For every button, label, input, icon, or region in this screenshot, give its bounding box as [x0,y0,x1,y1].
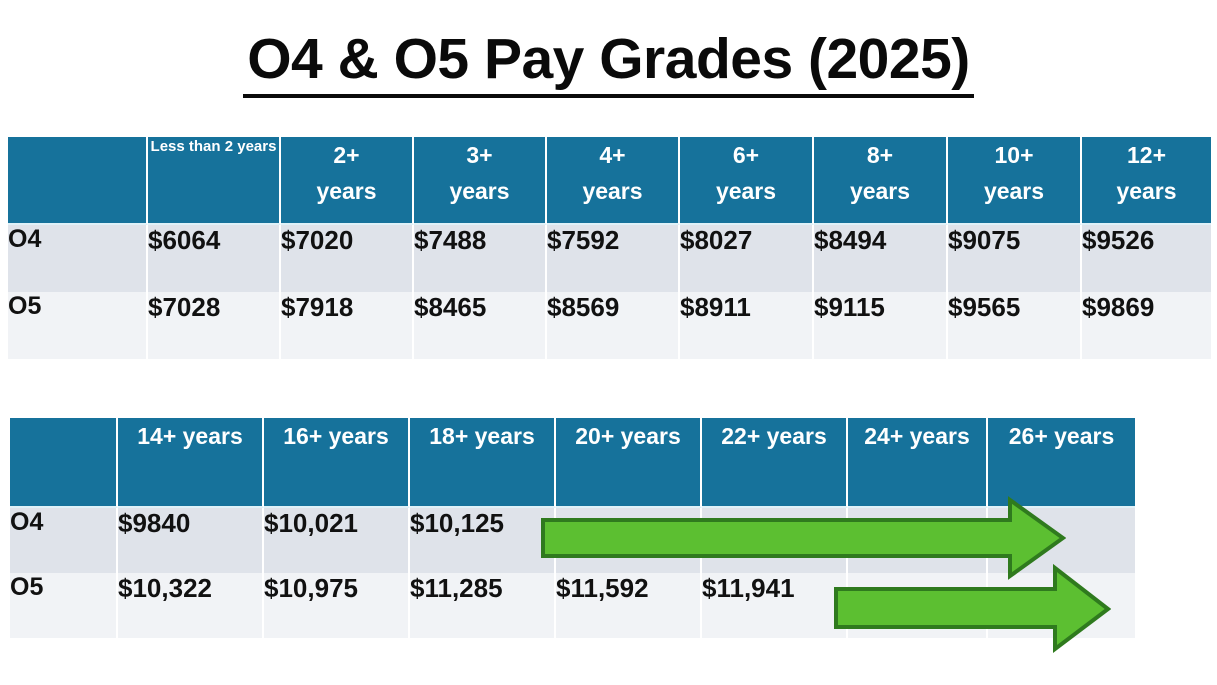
header-line-2: years [183,423,243,449]
header-line-2: years [680,173,812,209]
pay-cell: $10,125 [410,508,556,573]
header-corner-cell [10,418,118,508]
pay-cell: $11,592 [556,573,702,638]
header-line-2: years [547,173,678,209]
pay-cell: $9840 [118,508,264,573]
header-line-1: 10+ [994,142,1033,168]
header-line-2: years [814,173,946,209]
table-row-o4: O4 $9840 $10,021 $10,125 [10,508,1135,573]
header-line-1: 2+ [333,142,359,168]
header-line-1: Less than 2 [151,138,234,155]
pay-cell: $6064 [148,225,281,292]
pay-cell: $7028 [148,292,281,359]
header-line-2: years [948,173,1080,209]
pay-cell [848,508,988,573]
pay-cell [988,508,1135,573]
pay-cell: $9565 [948,292,1082,359]
header-line-2: years [475,423,535,449]
pay-cell: $10,021 [264,508,410,573]
header-line-2: years [237,138,276,155]
pay-cell [556,508,702,573]
column-header-26-years: 26+ years [988,418,1135,508]
column-header-8-years: 8+ years [814,137,948,225]
header-line-2: years [1054,423,1114,449]
pay-cell: $8569 [547,292,680,359]
pay-cell: $9526 [1082,225,1211,292]
row-label-o5: O5 [10,573,118,638]
header-line-1: 20+ [575,423,614,449]
row-label-o4: O4 [10,508,118,573]
header-line-2: years [329,423,389,449]
pay-table-years-0-12: Less than 2 years 2+ years 3+ years 4+ y… [8,137,1211,359]
table-header-row: 14+ years 16+ years 18+ years 20+ years … [10,418,1135,508]
column-header-less-than-2-years: Less than 2 years [148,137,281,225]
row-label-o4: O4 [8,225,148,292]
column-header-12-years: 12+ years [1082,137,1211,225]
pay-cell: $10,322 [118,573,264,638]
table-header-row: Less than 2 years 2+ years 3+ years 4+ y… [8,137,1211,225]
pay-cell: $11,285 [410,573,556,638]
column-header-14-years: 14+ years [118,418,264,508]
table-row-o4: O4 $6064 $7020 $7488 $7592 $8027 $8494 $… [8,225,1211,292]
pay-table-years-14-26: 14+ years 16+ years 18+ years 20+ years … [10,418,1135,638]
row-label-o5: O5 [8,292,148,359]
pay-cell: $7592 [547,225,680,292]
column-header-6-years: 6+ years [680,137,814,225]
page-title-container: O4 & O5 Pay Grades (2025) [0,30,1217,98]
header-line-2: years [621,423,681,449]
header-line-1: 22+ [721,423,760,449]
column-header-10-years: 10+ years [948,137,1082,225]
pay-cell: $9115 [814,292,948,359]
header-line-2: years [414,173,545,209]
header-line-2: years [1082,173,1211,209]
pay-cell: $8027 [680,225,814,292]
table-row-o5: O5 $10,322 $10,975 $11,285 $11,592 $11,9… [10,573,1135,638]
header-corner-cell [8,137,148,225]
header-line-1: 8+ [867,142,893,168]
pay-cell [848,573,988,638]
pay-cell: $8911 [680,292,814,359]
pay-cell: $10,975 [264,573,410,638]
column-header-20-years: 20+ years [556,418,702,508]
header-line-2: years [281,173,412,209]
header-line-1: 3+ [466,142,492,168]
header-line-1: 6+ [733,142,759,168]
column-header-24-years: 24+ years [848,418,988,508]
pay-cell: $11,941 [702,573,848,638]
pay-cell: $9869 [1082,292,1211,359]
table-row-o5: O5 $7028 $7918 $8465 $8569 $8911 $9115 $… [8,292,1211,359]
column-header-22-years: 22+ years [702,418,848,508]
header-line-1: 26+ [1009,423,1048,449]
column-header-16-years: 16+ years [264,418,410,508]
header-line-1: 16+ [283,423,322,449]
pay-cell: $9075 [948,225,1082,292]
column-header-3-years: 3+ years [414,137,547,225]
column-header-4-years: 4+ years [547,137,680,225]
pay-cell [988,573,1135,638]
pay-cell: $8494 [814,225,948,292]
pay-cell: $8465 [414,292,547,359]
pay-cell: $7488 [414,225,547,292]
page-title: O4 & O5 Pay Grades (2025) [243,30,974,98]
header-line-1: 4+ [599,142,625,168]
header-line-1: 12+ [1127,142,1166,168]
column-header-18-years: 18+ years [410,418,556,508]
column-header-2-years: 2+ years [281,137,414,225]
header-line-1: 14+ [137,423,176,449]
header-line-2: years [767,423,827,449]
pay-cell: $7918 [281,292,414,359]
header-line-2: years [910,423,970,449]
pay-cell: $7020 [281,225,414,292]
header-line-1: 24+ [864,423,903,449]
pay-cell [702,508,848,573]
header-line-1: 18+ [429,423,468,449]
